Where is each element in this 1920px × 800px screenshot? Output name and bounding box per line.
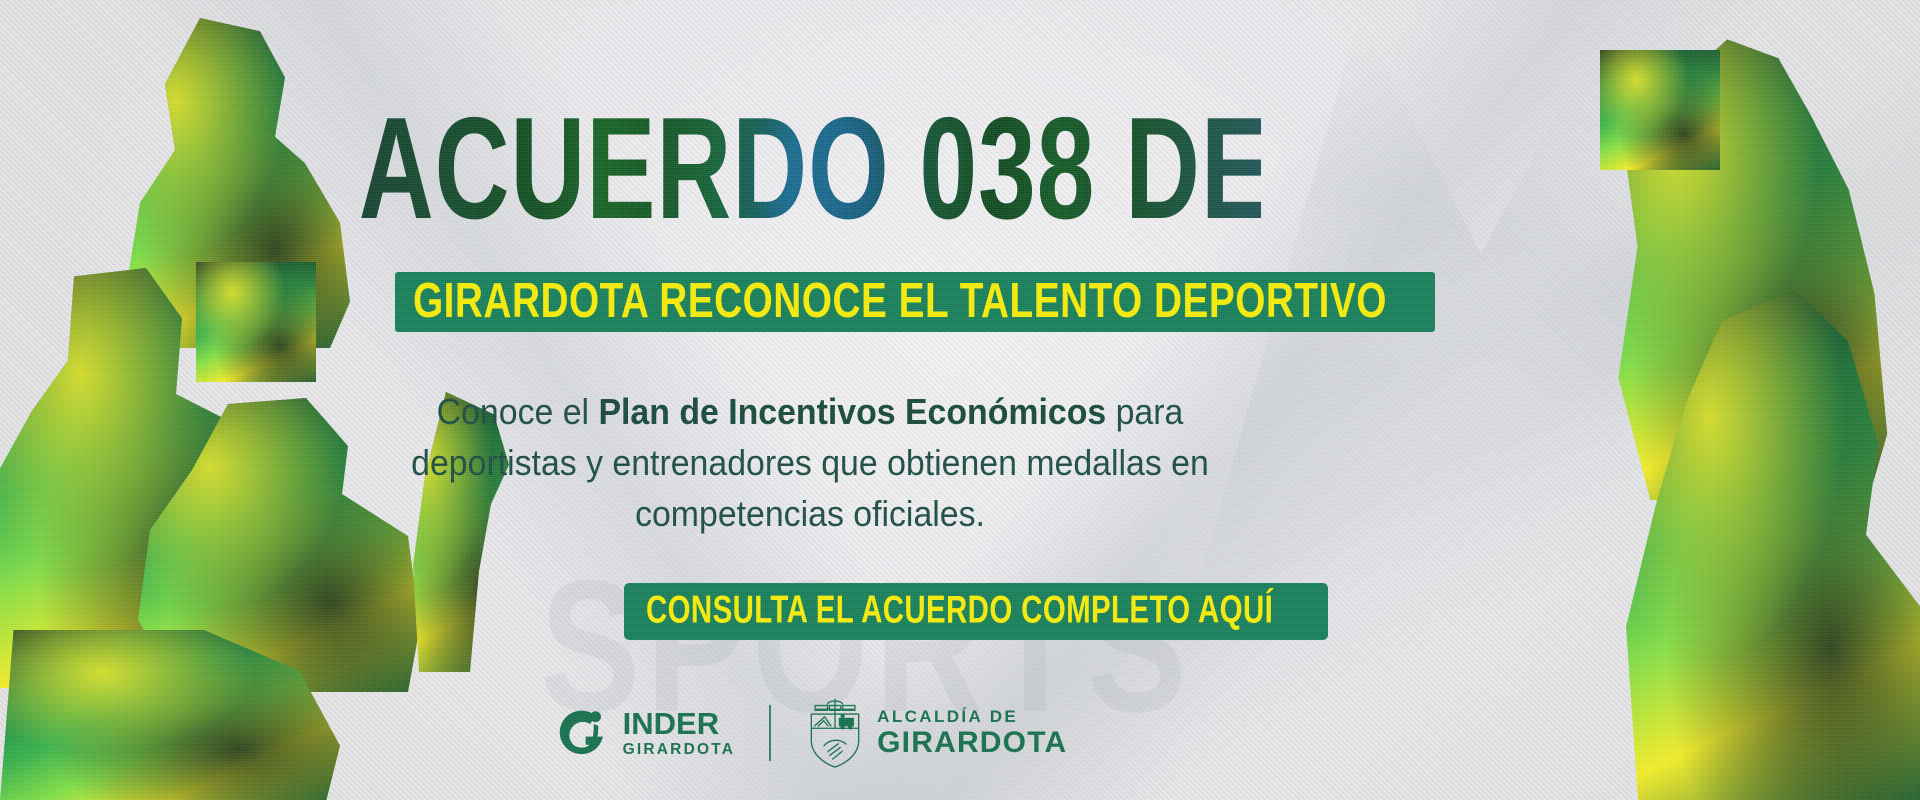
basketball-icon [1600,50,1720,170]
banner-title: ACUERDO 038 DE 2025 [359,96,1261,241]
subtitle-text: GIRARDOTA RECONOCE EL TALENTO DEPORTIVO [413,275,1387,326]
inder-wordmark: INDER GIRARDOTA [623,708,736,758]
basketball-player-figure [1580,30,1900,500]
alcaldia-line1: ALCALDÍA DE [877,708,1067,725]
coat-of-arms-shield-icon [805,697,865,769]
wrestler-athlete-figure [0,268,290,688]
subtitle-band: GIRARDOTA RECONOCE EL TALENTO DEPORTIVO [395,272,1435,332]
inder-city: GIRARDOTA [623,742,736,758]
alcaldia-line2: GIRARDOTA [877,728,1067,758]
female-cyclist-figure [1620,290,1920,800]
footer-logos: INDER GIRARDOTA [280,688,1340,778]
consult-agreement-button[interactable]: CONSULTA EL ACUERDO COMPLETO AQUÍ [624,583,1328,640]
promotional-banner: SPORTS ACUERDO [0,0,1920,800]
banner-content: ACUERDO 038 DE 2025 GIRARDOTA RECONOCE E… [300,0,1320,800]
inder-girardota-logo: INDER GIRARDOTA [553,704,736,762]
alcaldia-wordmark: ALCALDÍA DE GIRARDOTA [877,708,1067,758]
inder-name: INDER [623,708,736,739]
right-athlete-montage [1480,0,1920,800]
description-lead: Conoce el [437,391,599,432]
banner-description: Conoce el Plan de Incentivos Económicos … [378,386,1243,539]
description-highlight: Plan de Incentivos Económicos [598,391,1106,432]
consult-agreement-label: CONSULTA EL ACUERDO COMPLETO AQUÍ [646,590,1273,631]
alcaldia-girardota-logo: ALCALDÍA DE GIRARDOTA [805,697,1067,769]
logo-divider [769,705,771,761]
inder-g-icon [553,704,611,762]
volleyball-icon [196,262,316,382]
